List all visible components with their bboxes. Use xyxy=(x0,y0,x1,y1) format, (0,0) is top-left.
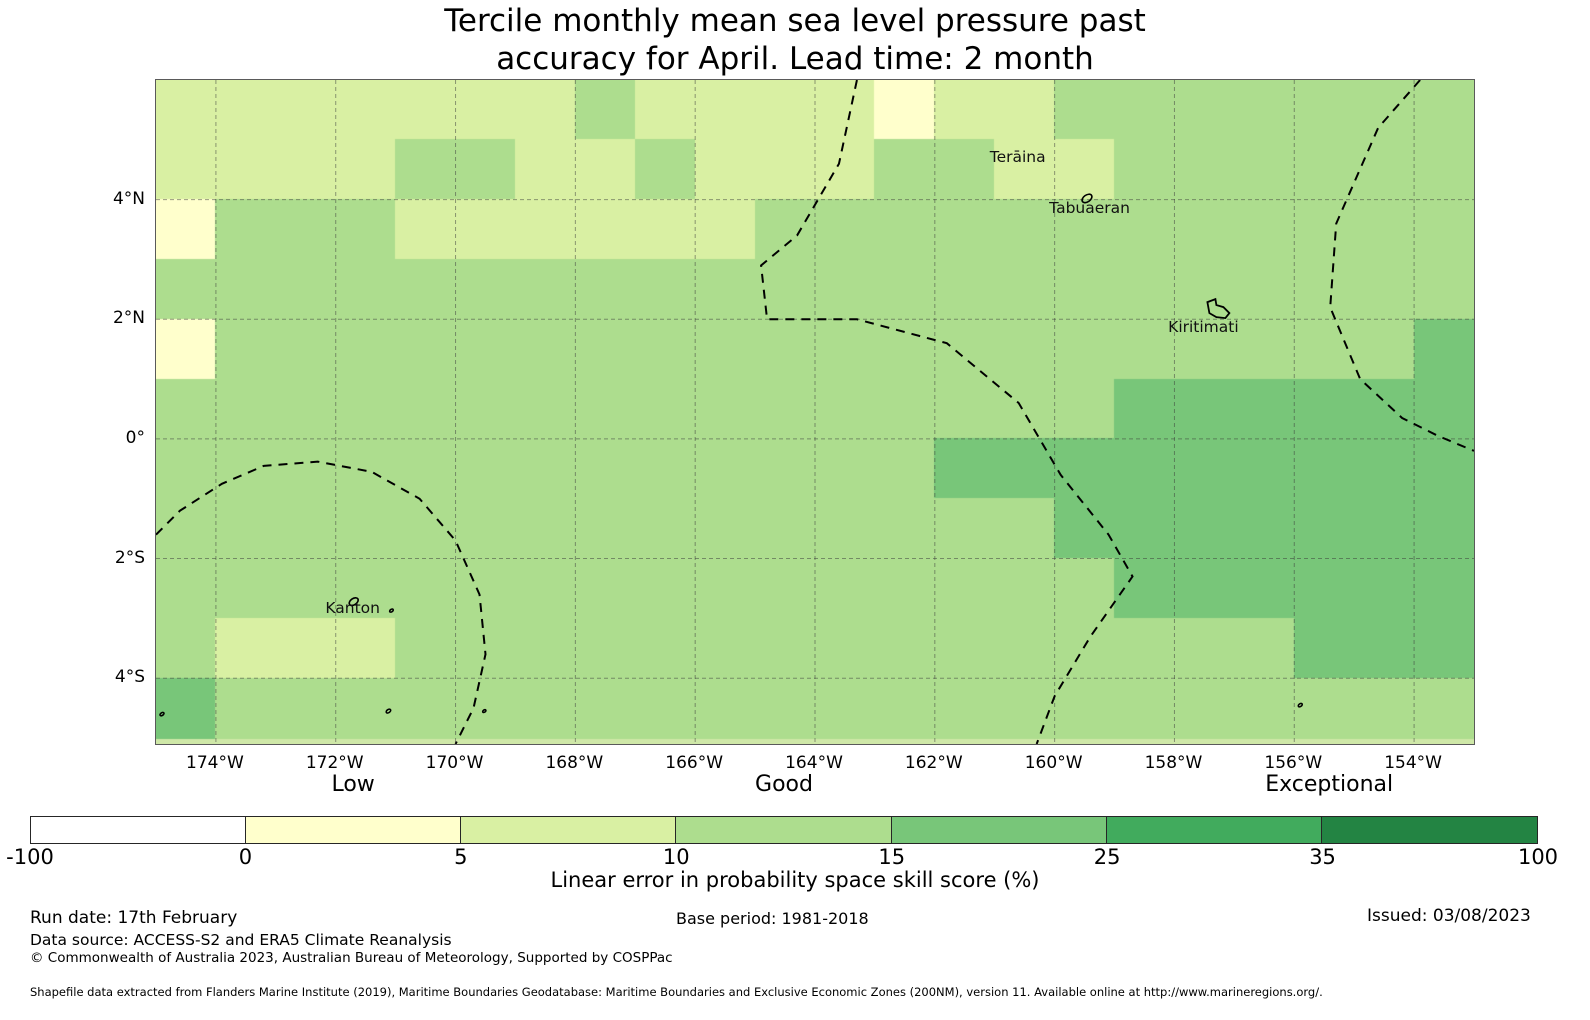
map-overlay xyxy=(156,80,1474,744)
forecast-map-page: Tercile monthly mean sea level pressure … xyxy=(0,0,1590,1020)
y-axis-tick-label: 2°S xyxy=(115,548,145,568)
x-axis-tick-label: 162°W xyxy=(905,753,963,773)
x-axis-tick-label: 160°W xyxy=(1025,753,1083,773)
colorbar-segment xyxy=(31,817,246,843)
colorbar-tick-label: 35 xyxy=(1309,845,1336,869)
x-axis-tick-label: 168°W xyxy=(545,753,603,773)
x-axis-tick-label: 164°W xyxy=(785,753,843,773)
colorbar-tick-label: -100 xyxy=(6,845,54,869)
run-date-text: Run date: 17th February xyxy=(30,908,237,928)
colorbar-segment xyxy=(1322,817,1537,843)
y-axis-tick-label: 4°S xyxy=(115,667,145,687)
y-axis-tick-label: 0° xyxy=(126,428,145,448)
skill-category-label: Exceptional xyxy=(1265,772,1393,797)
skill-category-label: Good xyxy=(755,772,813,797)
colorbar-tick-label: 5 xyxy=(454,845,467,869)
colorbar-tick-label: 10 xyxy=(663,845,690,869)
x-axis-tick-label: 174°W xyxy=(186,753,244,773)
colorbar-segment xyxy=(461,817,676,843)
data-source-text: Data source: ACCESS-S2 and ERA5 Climate … xyxy=(30,931,452,949)
page-title: Tercile monthly mean sea level pressure … xyxy=(0,2,1590,78)
island-label: Kanton xyxy=(325,599,380,617)
y-axis-tick-label: 2°N xyxy=(113,308,145,328)
y-axis-tick-label: 4°N xyxy=(113,189,145,209)
shapefile-attribution: Shapefile data extracted from Flanders M… xyxy=(30,985,1323,999)
colorbar-tick-label: 0 xyxy=(239,845,252,869)
colorbar-segment xyxy=(676,817,891,843)
map-plot-area xyxy=(155,79,1475,745)
island-label: Kiritimati xyxy=(1168,318,1239,336)
x-axis-tick-label: 156°W xyxy=(1264,753,1322,773)
colorbar-title: Linear error in probability space skill … xyxy=(0,868,1590,892)
copyright-text: © Commonwealth of Australia 2023, Austra… xyxy=(30,950,673,966)
colorbar xyxy=(30,816,1538,844)
colorbar-tick-label: 15 xyxy=(878,845,905,869)
colorbar-tick-label: 100 xyxy=(1518,845,1558,869)
x-axis-tick-label: 166°W xyxy=(665,753,723,773)
colorbar-tick-label: 25 xyxy=(1094,845,1121,869)
x-axis-tick-label: 172°W xyxy=(306,753,364,773)
x-axis-tick-label: 158°W xyxy=(1145,753,1203,773)
colorbar-segment xyxy=(1107,817,1322,843)
issued-date-text: Issued: 03/08/2023 xyxy=(1367,906,1531,926)
skill-category-label: Low xyxy=(331,772,374,797)
island-label: Tabuaeran xyxy=(1049,199,1130,217)
colorbar-segment xyxy=(892,817,1107,843)
x-axis-tick-label: 154°W xyxy=(1384,753,1442,773)
base-period-text: Base period: 1981-2018 xyxy=(676,909,869,928)
colorbar-segment xyxy=(246,817,461,843)
x-axis-tick-label: 170°W xyxy=(426,753,484,773)
island-label: Terāina xyxy=(990,148,1046,166)
